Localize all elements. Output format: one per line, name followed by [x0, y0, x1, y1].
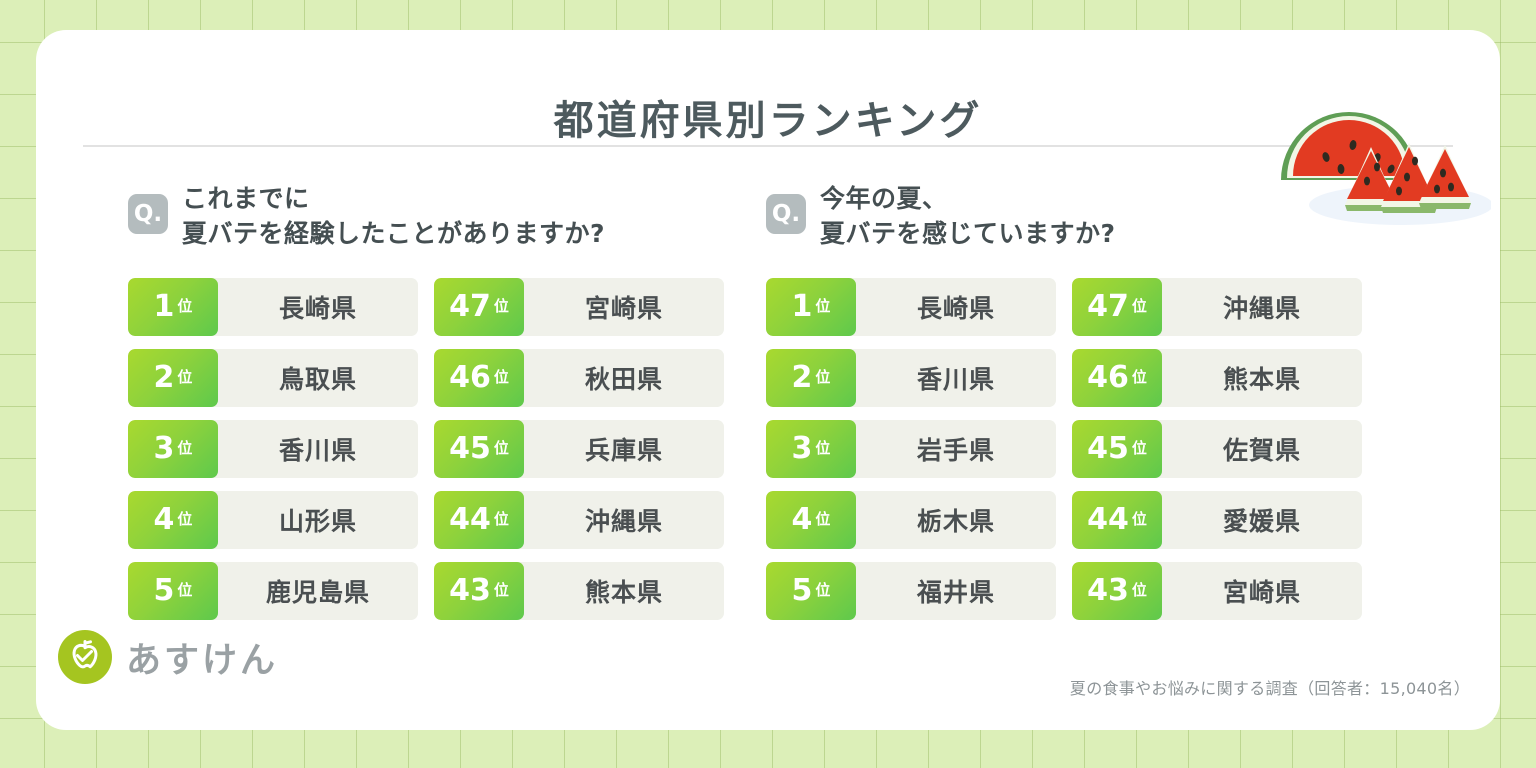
question-badge-icon: Q. [766, 194, 806, 234]
prefecture-name: 鳥取県 [218, 349, 418, 407]
rank-suffix: 位 [177, 370, 192, 387]
question-header: Q. これまでに 夏バテを経験したことがありますか? [128, 180, 768, 258]
table-row: 45 位 兵庫県 [434, 420, 724, 478]
question-line-2: 夏バテを感じていますか? [820, 217, 1116, 252]
prefecture-name: 兵庫県 [524, 420, 724, 478]
rank-suffix: 位 [815, 441, 830, 458]
table-row: 4 位 山形県 [128, 491, 418, 549]
rank-suffix: 位 [177, 299, 192, 316]
rank-number: 43 [1087, 576, 1129, 606]
prefecture-name: 栃木県 [856, 491, 1056, 549]
prefecture-name: 熊本県 [1162, 349, 1362, 407]
rank-number: 46 [1087, 363, 1129, 393]
prefecture-name: 愛媛県 [1162, 491, 1362, 549]
prefecture-name: 秋田県 [524, 349, 724, 407]
panel-this-summer: Q. 今年の夏、 夏バテを感じていますか? 1 位 長崎県 [766, 180, 1406, 633]
panel-experience: Q. これまでに 夏バテを経験したことがありますか? 1 位 長崎県 [128, 180, 768, 633]
rank-suffix: 位 [815, 583, 830, 600]
rank-number: 5 [792, 576, 813, 606]
rank-number: 1 [154, 292, 175, 322]
apple-logo-icon [58, 630, 112, 684]
rank-suffix: 位 [177, 441, 192, 458]
rank-number: 44 [449, 505, 491, 535]
rank-suffix: 位 [815, 512, 830, 529]
rank-badge: 4 位 [128, 491, 218, 549]
rank-badge: 4 位 [766, 491, 856, 549]
rank-number: 47 [1087, 292, 1129, 322]
prefecture-name: 鹿児島県 [218, 562, 418, 620]
rank-number: 2 [792, 363, 813, 393]
question-line-1: これまでに [182, 182, 605, 217]
question-text: 今年の夏、 夏バテを感じていますか? [820, 180, 1116, 251]
rank-number: 3 [154, 434, 175, 464]
prefecture-name: 沖縄県 [524, 491, 724, 549]
rank-badge: 5 位 [128, 562, 218, 620]
table-row: 45 位 佐賀県 [1072, 420, 1362, 478]
rank-number: 2 [154, 363, 175, 393]
rank-badge: 46 位 [434, 349, 524, 407]
rank-suffix: 位 [494, 299, 509, 316]
rank-number: 45 [1087, 434, 1129, 464]
prefecture-name: 宮崎県 [524, 278, 724, 336]
prefecture-name: 香川県 [218, 420, 418, 478]
rank-suffix: 位 [494, 512, 509, 529]
question-line-1: 今年の夏、 [820, 182, 1116, 217]
top-rank-column: 1 位 長崎県 2 位 香川県 3 [766, 278, 1056, 633]
rank-suffix: 位 [1132, 583, 1147, 600]
bottom-rank-column: 47 位 宮崎県 46 位 秋田県 45 [434, 278, 724, 633]
rank-suffix: 位 [494, 441, 509, 458]
brand-name: あすけん [126, 632, 278, 683]
rank-badge: 43 位 [1072, 562, 1162, 620]
table-row: 3 位 香川県 [128, 420, 418, 478]
rank-badge: 3 位 [128, 420, 218, 478]
table-row: 4 位 栃木県 [766, 491, 1056, 549]
rank-number: 4 [792, 505, 813, 535]
rank-badge: 5 位 [766, 562, 856, 620]
rank-number: 1 [792, 292, 813, 322]
table-row: 47 位 沖縄県 [1072, 278, 1362, 336]
rank-number: 4 [154, 505, 175, 535]
brand-logo: あすけん [58, 630, 278, 684]
table-row: 43 位 宮崎県 [1072, 562, 1362, 620]
table-row: 1 位 長崎県 [766, 278, 1056, 336]
rank-badge: 1 位 [766, 278, 856, 336]
table-row: 44 位 沖縄県 [434, 491, 724, 549]
rank-suffix: 位 [1132, 512, 1147, 529]
rank-suffix: 位 [815, 299, 830, 316]
rank-number: 3 [792, 434, 813, 464]
rank-number: 47 [449, 292, 491, 322]
rank-number: 46 [449, 363, 491, 393]
rank-suffix: 位 [177, 512, 192, 529]
rank-suffix: 位 [1132, 299, 1147, 316]
rank-columns: 1 位 長崎県 2 位 香川県 3 [766, 278, 1406, 633]
rank-badge: 46 位 [1072, 349, 1162, 407]
table-row: 3 位 岩手県 [766, 420, 1056, 478]
rank-suffix: 位 [494, 583, 509, 600]
prefecture-name: 長崎県 [856, 278, 1056, 336]
question-badge-icon: Q. [128, 194, 168, 234]
prefecture-name: 岩手県 [856, 420, 1056, 478]
bottom-rank-column: 47 位 沖縄県 46 位 熊本県 45 [1072, 278, 1362, 633]
rank-columns: 1 位 長崎県 2 位 鳥取県 3 [128, 278, 768, 633]
rank-suffix: 位 [177, 583, 192, 600]
table-row: 47 位 宮崎県 [434, 278, 724, 336]
rank-badge: 1 位 [128, 278, 218, 336]
ranking-panels: Q. これまでに 夏バテを経験したことがありますか? 1 位 長崎県 [36, 180, 1500, 680]
prefecture-name: 福井県 [856, 562, 1056, 620]
rank-badge: 43 位 [434, 562, 524, 620]
rank-badge: 45 位 [1072, 420, 1162, 478]
table-row: 2 位 香川県 [766, 349, 1056, 407]
rank-number: 44 [1087, 505, 1129, 535]
rank-badge: 44 位 [434, 491, 524, 549]
table-row: 43 位 熊本県 [434, 562, 724, 620]
question-header: Q. 今年の夏、 夏バテを感じていますか? [766, 180, 1406, 258]
rank-badge: 2 位 [766, 349, 856, 407]
table-row: 1 位 長崎県 [128, 278, 418, 336]
survey-note: 夏の食事やお悩みに関する調査（回答者：15,040名） [1070, 675, 1470, 699]
top-rank-column: 1 位 長崎県 2 位 鳥取県 3 [128, 278, 418, 633]
prefecture-name: 熊本県 [524, 562, 724, 620]
prefecture-name: 宮崎県 [1162, 562, 1362, 620]
question-text: これまでに 夏バテを経験したことがありますか? [182, 180, 605, 251]
prefecture-name: 長崎県 [218, 278, 418, 336]
prefecture-name: 香川県 [856, 349, 1056, 407]
rank-badge: 47 位 [434, 278, 524, 336]
table-row: 5 位 鹿児島県 [128, 562, 418, 620]
table-row: 44 位 愛媛県 [1072, 491, 1362, 549]
rank-badge: 2 位 [128, 349, 218, 407]
prefecture-name: 佐賀県 [1162, 420, 1362, 478]
prefecture-name: 沖縄県 [1162, 278, 1362, 336]
table-row: 46 位 熊本県 [1072, 349, 1362, 407]
rank-number: 5 [154, 576, 175, 606]
prefecture-name: 山形県 [218, 491, 418, 549]
rank-suffix: 位 [815, 370, 830, 387]
question-line-2: 夏バテを経験したことがありますか? [182, 217, 605, 252]
rank-badge: 3 位 [766, 420, 856, 478]
rank-badge: 45 位 [434, 420, 524, 478]
rank-number: 45 [449, 434, 491, 464]
rank-number: 43 [449, 576, 491, 606]
rank-suffix: 位 [494, 370, 509, 387]
main-card: 都道府県別ランキング [36, 30, 1500, 730]
rank-badge: 44 位 [1072, 491, 1162, 549]
table-row: 5 位 福井県 [766, 562, 1056, 620]
rank-badge: 47 位 [1072, 278, 1162, 336]
rank-suffix: 位 [1132, 441, 1147, 458]
table-row: 2 位 鳥取県 [128, 349, 418, 407]
table-row: 46 位 秋田県 [434, 349, 724, 407]
rank-suffix: 位 [1132, 370, 1147, 387]
